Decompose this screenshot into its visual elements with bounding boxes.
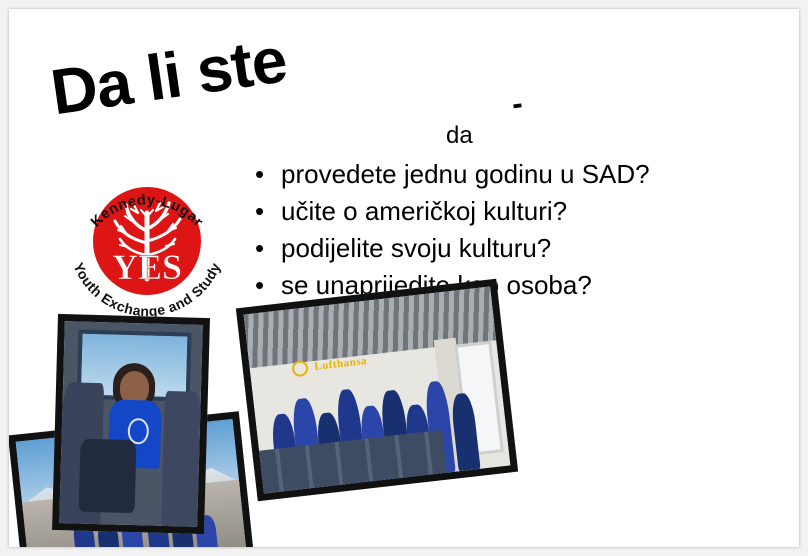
bullet-list: provedete jednu godinu u SAD? učite o am… xyxy=(255,156,650,304)
bullet-item: učite o američkoj kulturi? xyxy=(255,193,650,230)
logo-yes-wordmark: YES xyxy=(112,247,182,287)
slide-root: Da li ste spremni da provedete jednu god… xyxy=(0,0,808,556)
person xyxy=(450,392,481,471)
slide-surface: Da li ste spremni da provedete jednu god… xyxy=(9,9,799,547)
bus-seat-right xyxy=(161,391,201,527)
photo-portrait-scene xyxy=(59,321,203,527)
bullet-item: podijelite svoju kulturu? xyxy=(255,230,650,267)
page-title: Da li ste xyxy=(47,27,290,124)
photo-group-scene: Lufthansa xyxy=(244,287,511,494)
lead-word-da: da xyxy=(446,122,473,150)
yes-program-logo: YES Kennedy-Lugar Youth Exchange and Stu… xyxy=(62,167,232,319)
photo-portrait: Student in blue YES t-shirt seated on a … xyxy=(52,314,210,534)
photo-group: Lufthansa Group of students in blue t-sh… xyxy=(236,279,518,501)
duffel-bag xyxy=(79,439,136,513)
bullet-item: provedete jednu godinu u SAD? xyxy=(255,156,650,193)
